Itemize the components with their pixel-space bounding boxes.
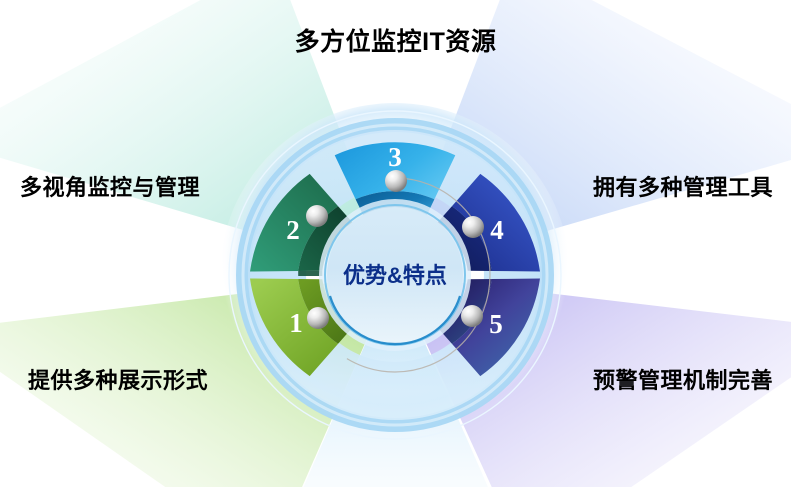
label-left-bottom: 提供多种展示形式 (28, 363, 208, 395)
segment-number-3: 3 (388, 142, 402, 172)
segment-2-inner-extra (298, 271, 322, 276)
marker-sphere-5[interactable] (461, 305, 483, 327)
segment-number-4: 4 (490, 215, 504, 245)
marker-sphere-2[interactable] (306, 205, 328, 227)
label-left-top: 多视角监控与管理 (20, 170, 200, 202)
center-label: 优势&特点 (343, 263, 447, 288)
segment-number-2: 2 (286, 215, 300, 245)
marker-sphere-3[interactable] (385, 170, 407, 192)
label-right-top: 拥有多种管理工具 (593, 170, 773, 202)
segment-number-5: 5 (489, 309, 503, 339)
label-right-bottom: 预警管理机制完善 (593, 363, 773, 395)
page-title: 多方位监控IT资源 (0, 22, 791, 58)
infographic-canvas: 优势&特点 1 2 3 4 5 多方位监控IT资源 多视角监控与管理 拥有多种管… (0, 0, 791, 487)
segmented-wheel: 优势&特点 1 2 3 4 5 (0, 0, 791, 487)
segment-number-1: 1 (289, 308, 303, 338)
marker-sphere-1[interactable] (307, 307, 329, 329)
marker-sphere-4[interactable] (462, 216, 484, 238)
